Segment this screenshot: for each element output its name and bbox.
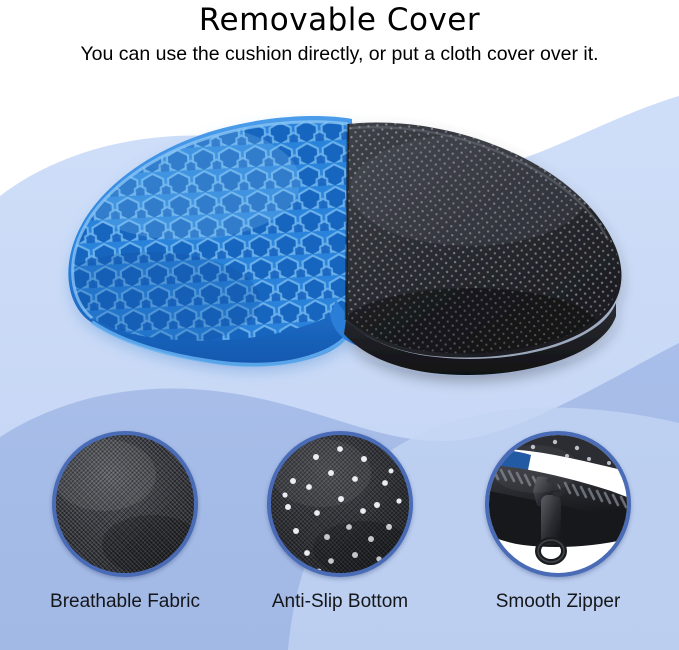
feature-anti-slip-bottom[interactable]: Anti-Slip Bottom <box>250 425 430 614</box>
feature-thumbnail-wrap <box>52 431 198 577</box>
feature-smooth-zipper[interactable]: Smooth Zipper <box>468 425 648 614</box>
mesh-sheen <box>56 435 194 573</box>
feature-label: Anti-Slip Bottom <box>250 591 430 614</box>
feature-thumbnail-wrap <box>267 431 413 577</box>
product-infographic: Removable Cover You can use the cushion … <box>0 0 679 650</box>
zipper-icon <box>489 435 627 573</box>
header: Removable Cover You can use the cushion … <box>0 0 679 86</box>
mesh-fabric-icon <box>56 435 194 573</box>
zipper-scene <box>489 435 627 573</box>
feature-breathable-fabric[interactable]: Breathable Fabric <box>35 425 215 614</box>
feature-label: Smooth Zipper <box>468 591 648 614</box>
cover-dot-texture <box>330 110 630 372</box>
anti-slip-dots-icon <box>271 435 409 573</box>
feature-thumbnail-wrap <box>485 431 631 577</box>
feature-list: Breathable Fabric <box>0 425 679 650</box>
page-subtitle: You can use the cushion directly, or put… <box>0 39 679 66</box>
cushion-group <box>40 105 630 375</box>
grip-dots <box>271 435 409 573</box>
page-title: Removable Cover <box>0 0 679 39</box>
feature-label: Breathable Fabric <box>35 591 215 614</box>
